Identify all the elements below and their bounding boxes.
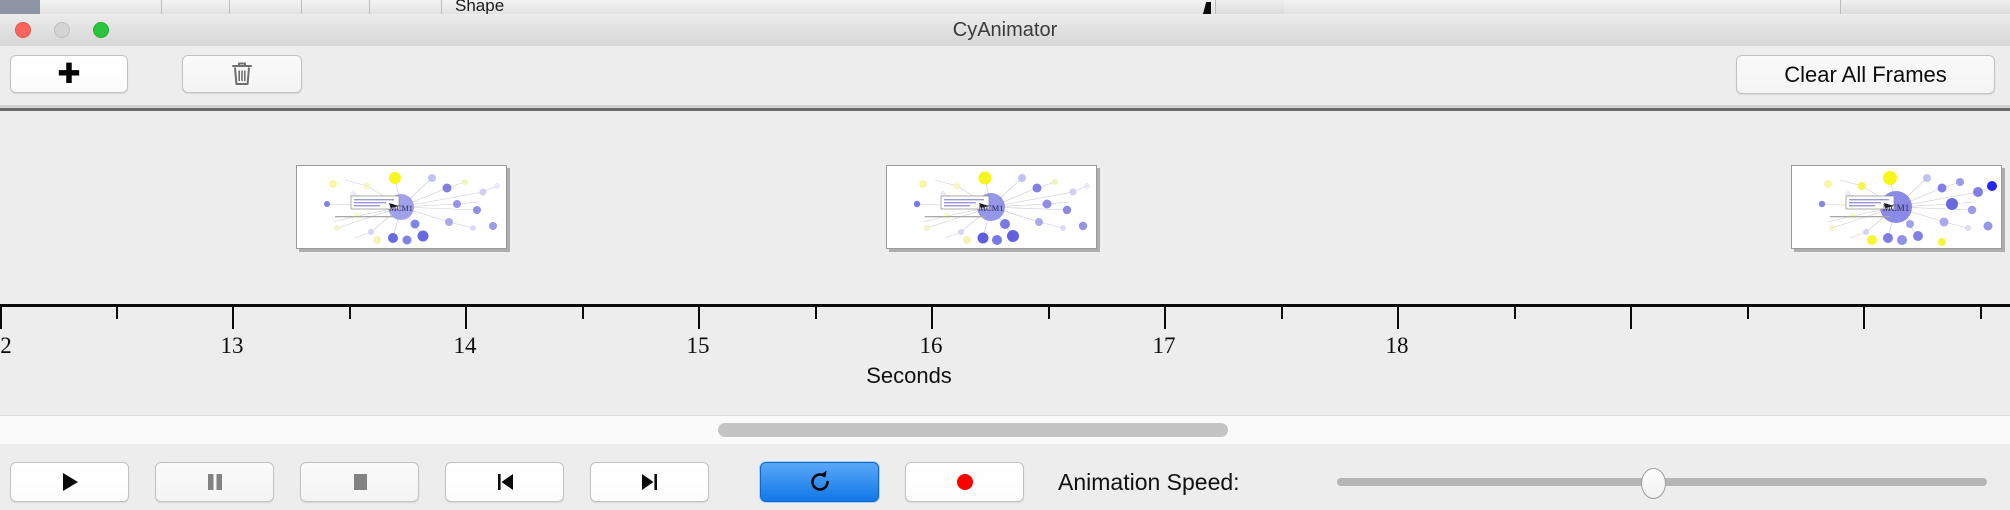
timeline-ruler	[0, 304, 2010, 307]
background-divider	[368, 0, 370, 14]
pause-icon	[205, 471, 225, 493]
ruler-tick-major	[232, 307, 234, 329]
animation-speed-slider-thumb[interactable]	[1641, 468, 1666, 499]
ruler-tick-minor	[1048, 307, 1050, 319]
axis-title-text: Seconds	[866, 363, 952, 388]
ruler-tick-major	[1630, 307, 1632, 329]
ruler-label: 15	[687, 333, 710, 359]
ruler-tick-minor	[582, 307, 584, 319]
svg-text:MCM1: MCM1	[1883, 203, 1910, 213]
skip-forward-icon	[639, 471, 661, 493]
scrollbar-thumb[interactable]	[718, 423, 1228, 437]
play-icon	[59, 471, 81, 493]
ruler-tick-minor	[116, 307, 118, 319]
ruler-tick-minor	[815, 307, 817, 319]
background-cursor-notch	[1203, 2, 1211, 14]
next-frame-button[interactable]	[590, 462, 709, 502]
timeline-frame-thumbnail[interactable]: MCM1	[886, 165, 1097, 249]
record-icon	[954, 471, 976, 493]
ruler-tick-major	[0, 307, 2, 329]
ruler-tick-minor	[1281, 307, 1283, 319]
background-divider	[228, 0, 230, 14]
background-active-tab	[0, 0, 40, 14]
timeline-scrollbar[interactable]	[0, 415, 2010, 445]
title-bar: CyAnimator	[0, 14, 2010, 47]
clear-all-frames-label: Clear All Frames	[1784, 62, 1947, 88]
record-button[interactable]	[905, 462, 1024, 502]
ruler-tick-major	[1397, 307, 1399, 329]
background-divider	[160, 0, 162, 14]
ruler-tick-major	[1863, 307, 1865, 329]
ruler-label: 14	[454, 333, 477, 359]
ruler-tick-major	[1164, 307, 1166, 329]
timeline-frame-thumbnail[interactable]: MCM1	[296, 165, 507, 249]
background-divider	[1840, 0, 2010, 14]
cyanimator-window: Shape CyAnimator ✚ Clear All Frames	[0, 0, 2010, 510]
background-shape-label: Shape	[455, 0, 504, 15]
timeline-frame-thumbnail[interactable]: MCM1	[1791, 165, 2002, 249]
ruler-label: 2	[0, 333, 12, 359]
delete-frame-button[interactable]	[182, 55, 302, 93]
timeline-panel[interactable]: MCM1	[0, 111, 2010, 415]
loop-button[interactable]	[760, 462, 879, 502]
pause-button[interactable]	[155, 462, 274, 502]
window-title: CyAnimator	[0, 14, 2010, 46]
loop-icon	[807, 469, 833, 495]
trash-icon	[231, 61, 253, 87]
ruler-label: 16	[920, 333, 943, 359]
timeline-axis-title: Seconds	[0, 363, 2010, 389]
previous-frame-button[interactable]	[445, 462, 564, 502]
svg-text:MCM1: MCM1	[978, 203, 1003, 213]
animation-speed-label: Animation Speed:	[1058, 462, 1240, 502]
ruler-tick-major	[698, 307, 700, 329]
network-thumbnail-icon: MCM1	[887, 166, 1096, 248]
plus-icon: ✚	[57, 60, 80, 88]
network-thumbnail-icon: MCM1	[1792, 166, 2001, 248]
ruler-tick-minor	[1980, 307, 1982, 319]
stop-icon	[350, 471, 370, 493]
ruler-tick-major	[931, 307, 933, 329]
ruler-label: 13	[221, 333, 244, 359]
ruler-tick-major	[465, 307, 467, 329]
ruler-tick-minor	[1514, 307, 1516, 319]
background-divider	[300, 0, 302, 14]
ruler-tick-minor	[349, 307, 351, 319]
background-divider	[440, 0, 442, 14]
skip-back-icon	[494, 471, 516, 493]
background-window-strip: Shape	[0, 0, 2010, 15]
network-thumbnail-icon: MCM1	[297, 166, 506, 248]
ruler-label: 17	[1153, 333, 1176, 359]
svg-text:MCM1: MCM1	[389, 204, 413, 213]
ruler-tick-minor	[1747, 307, 1749, 319]
background-divider	[1215, 0, 1284, 14]
stop-button[interactable]	[300, 462, 419, 502]
ruler-label: 18	[1386, 333, 1409, 359]
add-frame-button[interactable]: ✚	[10, 55, 128, 93]
play-button[interactable]	[10, 462, 129, 502]
clear-all-frames-button[interactable]: Clear All Frames	[1736, 55, 1995, 94]
